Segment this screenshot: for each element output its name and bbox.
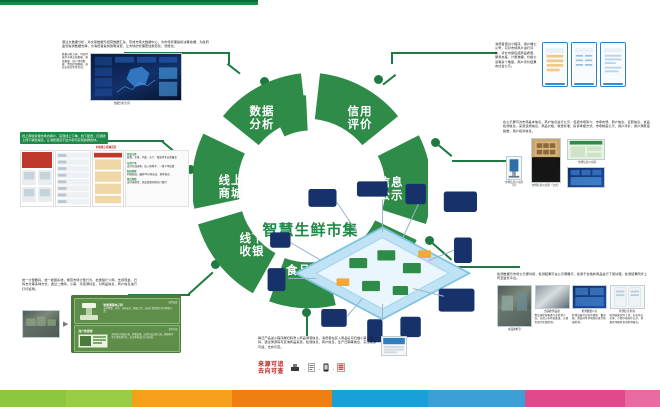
food-testing-data-thumb[interactable]: [572, 285, 607, 309]
label-line1: 数据: [242, 106, 282, 119]
bar-seg-orange-1: [132, 390, 232, 407]
food-testing-equipment-thumb[interactable]: [535, 285, 570, 309]
mall-feature-4-text: 支持退换货，商品质量问题先行赔付: [127, 181, 187, 184]
mall-feature-4: 售后保障 支持退换货，商品质量问题先行赔付: [127, 177, 187, 184]
food-testing-note-2: 检测设备可对农药残留、重金属、添加剂等多项指标进行快速检测。: [572, 314, 607, 324]
cashier-market-photo[interactable]: [22, 310, 60, 338]
mall-feature-2: 在线下单 支持在线选购、加入购物车、一键下单结算: [127, 161, 187, 168]
donut-label-data-analysis[interactable]: 数据 分析: [242, 106, 282, 132]
info-board-green-thumb[interactable]: [567, 139, 605, 160]
food-testing-query-caption: 检测信息查询: [610, 310, 645, 313]
info-disclosure-paragraph: 在公示屏可对市场基本信息、商户信息进行公示，包括市场简介、市场布局、商户信息、证…: [503, 120, 651, 133]
traceability-receipt-thumb[interactable]: [381, 336, 407, 356]
mall-banner-hero: [22, 152, 52, 168]
mall-col-banner: [20, 150, 54, 207]
bar-seg-green-1: [0, 390, 66, 407]
donut-label-online-mall[interactable]: 线上 商城: [211, 175, 251, 201]
cashier-card-scale-badge: 硬件设备: [169, 300, 178, 304]
data-analysis-side-note: 数据分析大屏，可实时展示市场交易数据、客流数据、商户经营数据、食品检测数据、商品…: [62, 53, 88, 101]
mall-feature-2-text: 支持在线选购、加入购物车、一键下单结算: [127, 165, 187, 168]
food-testing-note-3: 检测结果实时上传，在市场公示屏、小程序端同步公示，消费者可随时查询检测报告。: [610, 314, 645, 324]
bar-seg-pink-1: [525, 390, 625, 407]
info-kiosk-small-caption: 市场信息公示屏（小）: [503, 181, 525, 188]
flow-step-1: [290, 359, 300, 377]
block-food-traceability: 每日产品进小程序端扫码录入商品溯源信息，消费者在买入商品后可扫描小票二维码，通过…: [258, 336, 418, 377]
flow-step-4: [337, 359, 345, 377]
label-line2: 分析: [242, 119, 282, 132]
food-testing-note-1: 食品快检室配备专业检测人员，对进入市场的蔬菜、水果等进行农残检测。: [535, 314, 570, 324]
cashier-green-panel: 硬件设备 智能溯源电子秤 支持称重、打印、扫码支付、数据上传，自动计算金额并打印…: [71, 295, 181, 353]
mall-col-products: [92, 150, 124, 207]
data-analysis-paragraph: 通过大数据分析，对交易数据与经营数据汇总，形成市场大数据中心，为市场管理提供决策…: [62, 40, 210, 49]
cashier-arrow-icon: ▶: [63, 320, 68, 328]
top-green-bar-accent: [0, 0, 258, 2]
mall-feature-1-text: 蔬菜、水果、肉类、水产、粮油等全品类覆盖: [127, 156, 187, 159]
bar-seg-green-2: [66, 390, 132, 407]
flow-step-2: [308, 359, 315, 377]
info-kiosk-standing-caption: 市场信息公示屏（立式）: [529, 184, 563, 187]
info-board-blue-thumb[interactable]: [567, 167, 605, 188]
online-mall-subtitle: 市场线上商城首页: [20, 146, 192, 149]
donut-hub: 智慧生鲜市集: [255, 135, 366, 246]
block-food-testing: 检测数据与市场公示屏对接，检测结果可在公示屏展示，检测不合格的商品进行下架处理，…: [497, 272, 652, 331]
credit-rating-paragraph: 消费者通过小程序、用户端公众号，可对市场商户进行评价，评价内容包括商品质量、服务…: [495, 42, 539, 87]
cashier-card-scale-title: 智能溯源电子秤: [103, 303, 123, 307]
cashier-card-scale-text: 支持称重、打印、扫码支付、数据上传，自动计算金额并打印溯源小票。: [103, 308, 175, 314]
label-line2: 商城: [211, 188, 251, 201]
poster-canvas: 数据 分析 信用 评价 信息 公示 食品 检测 食品溯源 线下 收银 线上 商城: [0, 0, 660, 407]
label-line1: 线上: [211, 175, 251, 188]
data-analysis-thumb-caption: 数据分析大屏: [62, 102, 182, 105]
label-line1: 信用: [340, 106, 380, 119]
flow-arrow-1: →: [302, 366, 306, 371]
info-kiosk-standing-thumb[interactable]: [531, 138, 561, 183]
capability-donut: 数据 分析 信用 评价 信息 公示 食品 检测 食品溯源 线下 收银 线上 商城: [193, 73, 428, 308]
online-mall-screenshot[interactable]: 商品分类 蔬菜、水果、肉类、水产、粮油等全品类覆盖 在线下单 支持在线选购、加入…: [20, 150, 195, 207]
traceability-flow: → → →: [290, 359, 345, 377]
mall-feature-list: 商品分类 蔬菜、水果、肉类、水产、粮油等全品类覆盖 在线下单 支持在线选购、加入…: [125, 150, 189, 207]
flow-arrow-2: →: [317, 366, 321, 371]
credit-rating-phone-1[interactable]: [542, 42, 568, 87]
cashier-card-pos-badge: 软件系统: [169, 327, 178, 331]
credit-rating-phone-2[interactable]: [571, 42, 597, 87]
mall-feature-1: 商品分类 蔬菜、水果、肉类、水产、粮油等全品类覆盖: [127, 152, 187, 159]
data-analysis-dashboard-thumb[interactable]: [90, 53, 182, 101]
block-online-mall: 线上商城对接市场内商户，实现线上下单、线下配送，打通线上线下销售渠道，让消费者足…: [20, 132, 195, 207]
cashier-card-pos[interactable]: 软件系统 商户收银端 实时显示商品价格、称重结果，自动生成交易记录，数据同步至市…: [74, 325, 180, 352]
food-testing-query-thumb[interactable]: [610, 285, 645, 309]
cashier-card-pos-text: 实时显示商品价格、称重结果，自动生成交易记录，数据同步至市场管理平台，支持多种支…: [111, 334, 175, 340]
food-testing-data-caption: 检测数据公示: [572, 310, 607, 313]
mall-feature-3-text: 同城配送，最快30分钟送达，新鲜直达: [127, 173, 187, 176]
offline-cashier-paragraph: 统一计量器具、统一收银系统，规范市场计量行为，杜绝缺斤少两，支持现金、扫码支付等…: [22, 278, 140, 291]
bar-seg-pink-2: [625, 390, 660, 407]
block-info-disclosure: 在公示屏可对市场基本信息、商户信息进行公示，包括市场简介、市场布局、商户信息、证…: [503, 120, 653, 188]
donut-label-credit-rating[interactable]: 信用 评价: [340, 106, 380, 132]
block-data-analysis: 通过大数据分析，对交易数据与经营数据汇总，形成市场大数据中心，为市场管理提供决策…: [62, 40, 212, 105]
credit-rating-phone-3[interactable]: [600, 42, 626, 87]
traceability-handwritten-note: 来源可追 去向可查: [258, 361, 284, 375]
food-traceability-paragraph: 每日产品进小程序端扫码录入商品溯源信息，消费者在买入商品后可扫描小票二维码，通过…: [258, 336, 378, 356]
bar-seg-blue-2: [428, 390, 525, 407]
food-testing-paragraph: 检测数据与市场公示屏对接，检测结果可在公示屏展示，检测不合格的商品进行下架处理，…: [497, 272, 649, 281]
food-testing-lab-caption: 食品快检室: [497, 328, 532, 331]
bar-seg-blue-1: [332, 390, 428, 407]
food-testing-lab-thumb[interactable]: [497, 285, 532, 327]
bottom-color-bar: [0, 390, 660, 407]
mall-feature-3: 配送到家 同城配送，最快30分钟送达，新鲜直达: [127, 169, 187, 176]
label-line2: 评价: [340, 119, 380, 132]
info-board-green-caption: 市场信息公示屏: [567, 161, 607, 164]
mall-col-categories: [55, 150, 91, 207]
flow-step-3: [323, 359, 329, 377]
block-offline-cashier: 统一计量器具、统一收银系统，规范市场计量行为，杜绝缺斤少两，支持现金、扫码支付等…: [22, 278, 197, 353]
bar-seg-orange-2: [232, 390, 332, 407]
cashier-card-pos-title: 商户收银端: [78, 329, 92, 333]
block-credit-rating: 消费者通过小程序、用户端公众号，可对市场商户进行评价，评价内容包括商品质量、服务…: [495, 42, 645, 87]
online-mall-header: 线上商城对接市场内商户，实现线上下单、线下配送，打通线上线下销售渠道，让消费者足…: [20, 132, 108, 144]
food-testing-equipment-caption: 食品检测设备: [535, 310, 570, 313]
cashier-card-scale[interactable]: 硬件设备 智能溯源电子秤 支持称重、打印、扫码支付、数据上传，自动计算金额并打印…: [74, 298, 180, 324]
info-kiosk-small-thumb[interactable]: [506, 156, 522, 180]
flow-arrow-3: →: [331, 366, 335, 371]
